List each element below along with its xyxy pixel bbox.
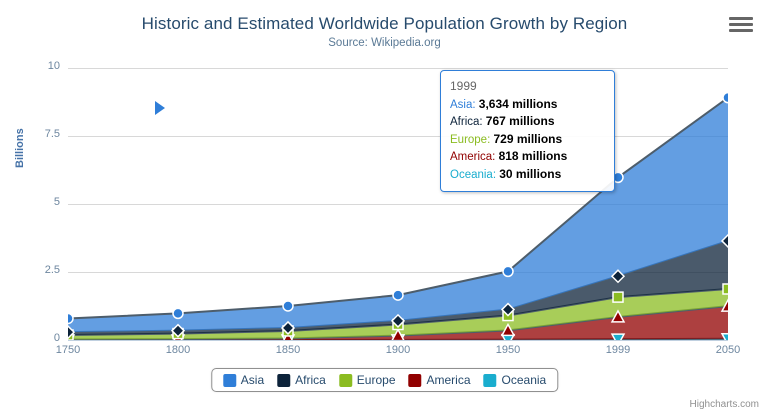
tooltip-row: Africa: 767 millions: [450, 113, 605, 131]
tooltip-series-name: America:: [450, 151, 499, 163]
tooltip-row: Oceania: 30 millions: [450, 166, 605, 184]
tooltip-series-value: 818 millions: [499, 149, 568, 163]
series-layer: [68, 68, 728, 340]
x-axis-tick-label: 1750: [38, 344, 98, 356]
legend-item-america[interactable]: America: [409, 373, 471, 387]
legend-item-europe[interactable]: Europe: [339, 373, 396, 387]
tooltip-series-value: 30 millions: [499, 167, 561, 181]
x-axis-tick-label: 1800: [148, 344, 208, 356]
tooltip-row: Asia: 3,634 millions: [450, 96, 605, 114]
legend-item-oceania[interactable]: Oceania: [484, 373, 547, 387]
point-marker-asia[interactable]: [393, 290, 403, 300]
tooltip: 1999 Asia: 3,634 millionsAfrica: 767 mil…: [440, 70, 615, 192]
y-axis-tick-label: 0: [14, 332, 60, 344]
legend-swatch-icon: [339, 374, 352, 387]
legend-item-asia[interactable]: Asia: [223, 373, 264, 387]
tooltip-series-value: 767 millions: [486, 114, 555, 128]
tooltip-pointer-icon: [155, 101, 165, 115]
tooltip-series-value: 729 millions: [493, 132, 562, 146]
tooltip-row: Europe: 729 millions: [450, 131, 605, 149]
y-axis-tick-label: 2.5: [14, 264, 60, 276]
legend-swatch-icon: [484, 374, 497, 387]
hamburger-bar: [729, 23, 753, 26]
tooltip-series-name: Europe:: [450, 134, 493, 146]
chart-subtitle: Source: Wikipedia.org: [0, 37, 769, 49]
point-marker-asia[interactable]: [283, 301, 293, 311]
legend-label: Europe: [357, 373, 396, 387]
y-axis-tick-label: 10: [14, 60, 60, 72]
tooltip-header: 1999: [450, 78, 605, 96]
legend-label: Asia: [241, 373, 264, 387]
hamburger-menu-icon[interactable]: [729, 14, 753, 36]
legend-label: Africa: [295, 373, 326, 387]
point-marker-asia[interactable]: [173, 308, 183, 318]
point-marker-asia[interactable]: [723, 93, 728, 103]
tooltip-row: America: 818 millions: [450, 148, 605, 166]
gridline: [68, 340, 728, 341]
plot-area: [68, 68, 728, 340]
x-axis-tick-label: 1900: [368, 344, 428, 356]
x-axis-tick-label: 2050: [698, 344, 758, 356]
x-axis-tick-label: 1950: [478, 344, 538, 356]
tooltip-rows: Asia: 3,634 millionsAfrica: 767 millions…: [450, 96, 605, 184]
hamburger-bar: [729, 17, 753, 20]
highcharts-container: Historic and Estimated Worldwide Populat…: [0, 0, 769, 416]
legend-swatch-icon: [409, 374, 422, 387]
tooltip-series-name: Asia:: [450, 99, 479, 111]
credits-label: Highcharts.com: [690, 399, 759, 410]
point-marker-asia[interactable]: [68, 313, 73, 323]
y-axis-tick-label: 5: [14, 196, 60, 208]
tooltip-series-value: 3,634 millions: [479, 97, 558, 111]
legend: AsiaAfricaEuropeAmericaOceania: [211, 368, 558, 392]
legend-label: Oceania: [502, 373, 547, 387]
x-axis-tick-label: 1850: [258, 344, 318, 356]
tooltip-series-name: Africa:: [450, 116, 486, 128]
legend-swatch-icon: [223, 374, 236, 387]
legend-label: America: [427, 373, 471, 387]
y-axis-tick-label: 7.5: [14, 128, 60, 140]
point-marker-europe[interactable]: [723, 284, 728, 294]
tooltip-series-name: Oceania:: [450, 169, 499, 181]
legend-swatch-icon: [277, 374, 290, 387]
hamburger-bar: [729, 29, 753, 32]
chart-title: Historic and Estimated Worldwide Populat…: [0, 14, 769, 34]
x-axis-tick-label: 1999: [588, 344, 648, 356]
legend-item-africa[interactable]: Africa: [277, 373, 326, 387]
point-marker-europe[interactable]: [613, 292, 623, 302]
point-marker-asia[interactable]: [503, 266, 513, 276]
